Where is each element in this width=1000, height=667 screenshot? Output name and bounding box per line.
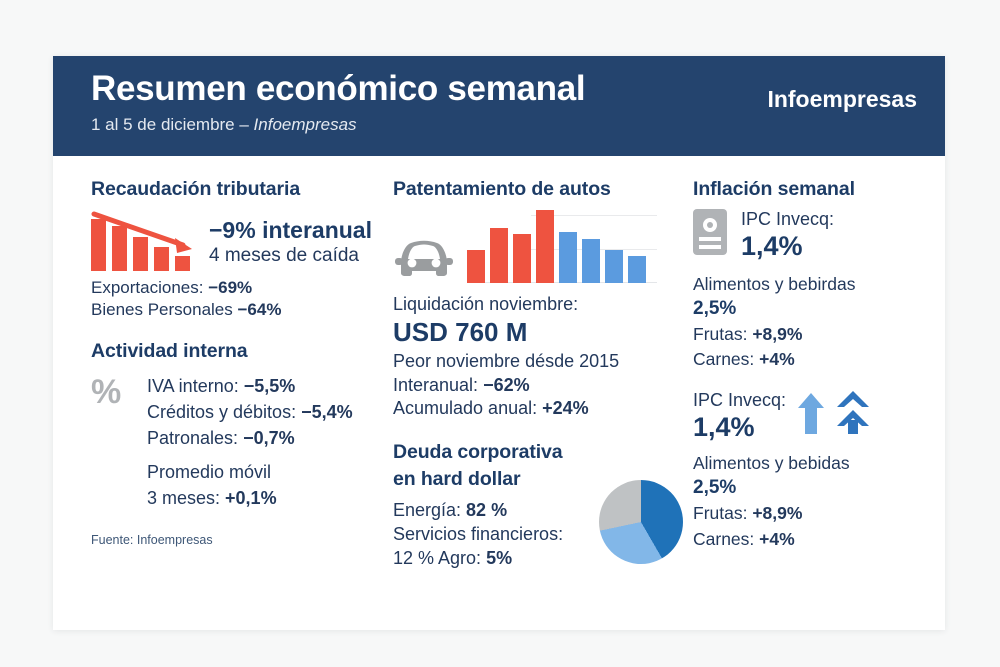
- recaudacion-headline: −9% interanual: [209, 217, 372, 244]
- deuda-text: Deuda corporativa en hard dollar Energía…: [393, 441, 591, 570]
- list-item: Servicios financieros:: [393, 523, 591, 547]
- patentamiento-bar-chart: [467, 209, 657, 283]
- header-banner: Resumen económico semanal 1 al 5 de dici…: [53, 56, 945, 156]
- ipc-label: IPC Invecq:: [693, 390, 786, 412]
- promedio-movil-line1: Promedio móvil: [147, 459, 353, 485]
- item-value: +4%: [759, 349, 795, 369]
- item-value: 82 %: [466, 500, 507, 520]
- food-label: Alimentos y bebidas: [693, 451, 931, 476]
- recaudacion-headline-text: −9% interanual 4 meses de caída: [209, 209, 372, 268]
- ipc-values-2: IPC Invecq: 1,4%: [693, 388, 786, 443]
- arrow-down-trend-icon: [91, 209, 199, 271]
- declining-bar-chart: [91, 209, 199, 271]
- section-title-actividad: Actividad interna: [91, 340, 383, 363]
- item-value: +4%: [759, 529, 795, 549]
- column-recaudacion: Recaudación tributaria −9% interanual: [53, 178, 393, 630]
- section-title-recaudacion: Recaudación tributaria: [91, 178, 383, 201]
- item-label: IVA interno:: [147, 376, 244, 396]
- header-row: Resumen económico semanal 1 al 5 de dici…: [91, 70, 917, 135]
- food-label: Alimentos y bebirdas: [693, 272, 931, 297]
- item-label: Frutas:: [693, 324, 752, 344]
- actividad-items: IVA interno: −5,5% Créditos y débitos: −…: [147, 371, 353, 511]
- food-value: 2,5%: [693, 476, 931, 501]
- arrow-up-icon: [796, 390, 826, 436]
- list-item: 12 % Agro: 5%: [393, 547, 591, 571]
- recaudacion-headline-unit: interanual: [256, 217, 372, 243]
- item-label: Acumulado anual:: [393, 398, 542, 418]
- item-label: Bienes Personales: [91, 300, 237, 319]
- ipc-value: 1,4%: [693, 412, 786, 443]
- item-value: −5,4%: [301, 402, 353, 422]
- header-subtitle-brand: Infoempresas: [254, 115, 357, 134]
- ipc-label: IPC Invecq:: [741, 209, 834, 231]
- column-inflacion: Inflación semanal IPC Invecq: 1,4% Alime…: [693, 178, 945, 630]
- car-icon: [393, 237, 455, 283]
- item-value: −5,5%: [244, 376, 296, 396]
- content-columns: Recaudación tributaria −9% interanual: [53, 156, 945, 630]
- icon-circle: [703, 218, 717, 232]
- inflacion-items-1: Alimentos y bebirdas 2,5% Frutas: +8,9% …: [693, 272, 931, 373]
- item-value: 5%: [486, 548, 512, 568]
- item-label: Créditos y débitos:: [147, 402, 301, 422]
- source-note: Fuente: Infoempresas: [91, 533, 383, 547]
- item-label: Carnes:: [693, 529, 759, 549]
- trend-arrows: [796, 388, 870, 436]
- inflacion-items-2: Alimentos y bebidas 2,5% Frutas: +8,9% C…: [693, 451, 931, 552]
- list-item: Interanual: −62%: [393, 374, 683, 398]
- food-value: 2,5%: [693, 297, 931, 322]
- list-item: Acumulado anual: +24%: [393, 397, 683, 421]
- deuda-pie-chart: [599, 480, 683, 564]
- item-value: +24%: [542, 398, 589, 418]
- brand-logo-text: Infoempresas: [767, 86, 917, 113]
- recaudacion-headline-row: −9% interanual 4 meses de caída: [91, 209, 383, 271]
- document-card-icon: [693, 209, 727, 255]
- list-item: Patronales: −0,7%: [147, 425, 353, 451]
- column-patentamiento: Patentamiento de autos: [393, 178, 693, 630]
- item-value: −69%: [208, 278, 252, 297]
- icon-line: [699, 245, 721, 249]
- item-value: −0,7%: [243, 428, 295, 448]
- section-title-patentamiento: Patentamiento de autos: [393, 178, 683, 201]
- list-item: IVA interno: −5,5%: [147, 373, 353, 399]
- list-item: Frutas: +8,9%: [693, 322, 931, 347]
- item-label: Energía:: [393, 500, 466, 520]
- section-title-inflacion: Inflación semanal: [693, 178, 931, 201]
- header-left: Resumen económico semanal 1 al 5 de dici…: [91, 70, 585, 135]
- item-value: −64%: [237, 300, 281, 319]
- list-item: Bienes Personales −64%: [91, 299, 383, 321]
- item-label: Interanual:: [393, 375, 483, 395]
- list-item: Frutas: +8,9%: [693, 501, 931, 526]
- infographic-card: Resumen económico semanal 1 al 5 de dici…: [53, 56, 945, 630]
- spacer: [693, 372, 931, 386]
- ipc-value: 1,4%: [741, 231, 834, 262]
- page-title: Resumen económico semanal: [91, 70, 585, 108]
- item-label: 12 % Agro:: [393, 548, 486, 568]
- item-label: Servicios financieros:: [393, 524, 563, 544]
- list-item: Créditos y débitos: −5,4%: [147, 399, 353, 425]
- ipc-block-1: IPC Invecq: 1,4%: [693, 209, 931, 262]
- list-item: Exportaciones: −69%: [91, 277, 383, 299]
- item-label: Carnes:: [693, 349, 759, 369]
- percent-icon: %: [91, 375, 135, 409]
- item-value: −62%: [483, 375, 530, 395]
- section-actividad-interna: Actividad interna % IVA interno: −5,5% C…: [91, 340, 383, 547]
- liquidacion-note: Peor noviembre désde 2015: [393, 350, 683, 374]
- liquidacion-caption: Liquidación noviembre:: [393, 293, 683, 317]
- ipc-block-2: IPC Invecq: 1,4%: [693, 388, 931, 443]
- patentamiento-chart-row: [393, 209, 683, 283]
- section-title-deuda-line2: en hard dollar: [393, 468, 591, 491]
- actividad-row: % IVA interno: −5,5% Créditos y débitos:…: [91, 371, 383, 511]
- section-title-deuda-line1: Deuda corporativa: [393, 441, 591, 464]
- section-deuda-corporativa: Deuda corporativa en hard dollar Energía…: [393, 441, 683, 570]
- header-subtitle: 1 al 5 de diciembre – Infoempresas: [91, 115, 585, 135]
- liquidacion-value: USD 760 M: [393, 317, 683, 347]
- item-label: Patronales:: [147, 428, 243, 448]
- item-label: Exportaciones:: [91, 278, 208, 297]
- item-label: 3 meses:: [147, 488, 225, 508]
- infographic-canvas: Resumen económico semanal 1 al 5 de dici…: [0, 0, 1000, 667]
- recaudacion-headline-value: −9%: [209, 217, 256, 243]
- item-value: +8,9%: [752, 503, 802, 523]
- recaudacion-subline: 4 meses de caída: [209, 244, 372, 268]
- ipc-values-1: IPC Invecq: 1,4%: [741, 209, 834, 262]
- item-value: +0,1%: [225, 488, 277, 508]
- header-subtitle-separator: –: [235, 115, 254, 134]
- list-item: Carnes: +4%: [693, 347, 931, 372]
- item-label: Frutas:: [693, 503, 752, 523]
- header-subtitle-date: 1 al 5 de diciembre: [91, 115, 235, 134]
- promedio-movil-line2: 3 meses: +0,1%: [147, 485, 353, 511]
- list-item: Energía: 82 %: [393, 499, 591, 523]
- recaudacion-items: Exportaciones: −69% Bienes Personales −6…: [91, 277, 383, 322]
- list-item: Carnes: +4%: [693, 527, 931, 552]
- item-value: +8,9%: [752, 324, 802, 344]
- double-chevron-up-icon: [836, 390, 870, 436]
- icon-line: [699, 237, 721, 241]
- bars-group: [467, 209, 646, 283]
